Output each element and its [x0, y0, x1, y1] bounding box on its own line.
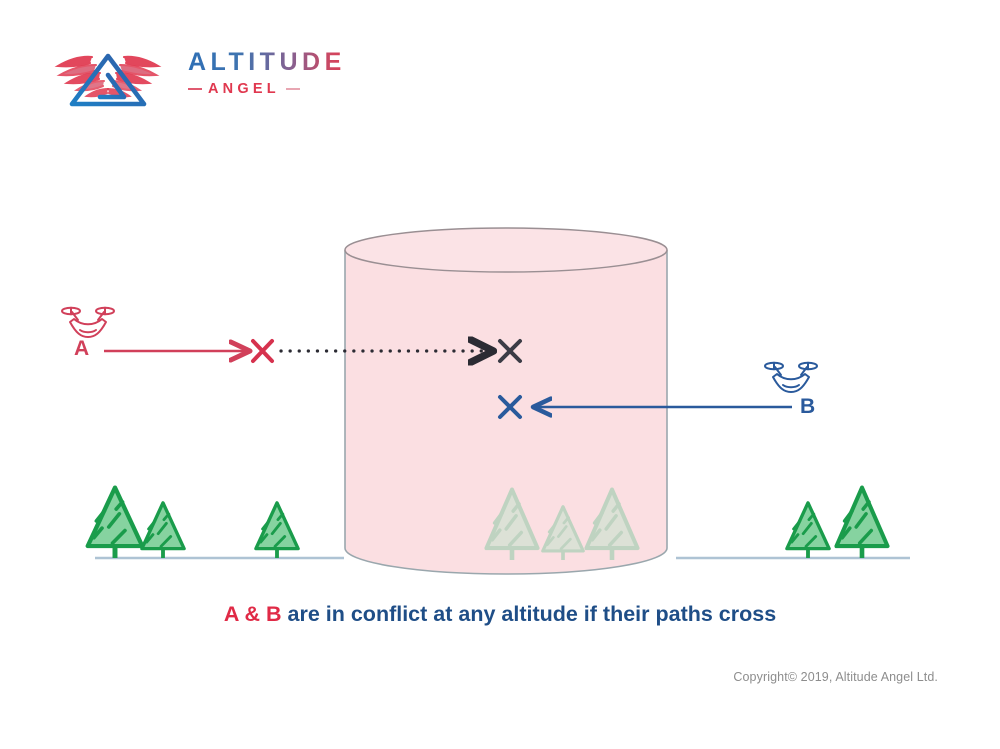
cylinder-top-ellipse	[345, 228, 667, 272]
copyright-notice: Copyright© 2019, Altitude Angel Ltd.	[733, 671, 938, 684]
tree-icon	[787, 503, 829, 558]
tree-group-right	[787, 488, 888, 558]
caption-highlight: A & B	[224, 602, 282, 626]
diagram-caption: A & B are in conflict at any altitude if…	[0, 602, 1000, 628]
tree-icon	[88, 488, 143, 558]
tree-group-left	[88, 488, 298, 558]
drone-b-icon	[765, 363, 817, 392]
drone-b-label: B	[800, 396, 815, 417]
tree-icon	[256, 503, 298, 558]
conflict-diagram	[0, 0, 1000, 749]
caption-rest: are in conflict at any altitude if their…	[282, 602, 777, 626]
diagram-canvas: ALTITUDE ANGEL	[0, 0, 1000, 749]
tree-icon	[142, 503, 184, 558]
cross-a-icon	[253, 341, 272, 361]
tree-icon	[836, 488, 887, 558]
drone-a-icon	[62, 308, 114, 337]
drone-a-label: A	[74, 338, 89, 359]
